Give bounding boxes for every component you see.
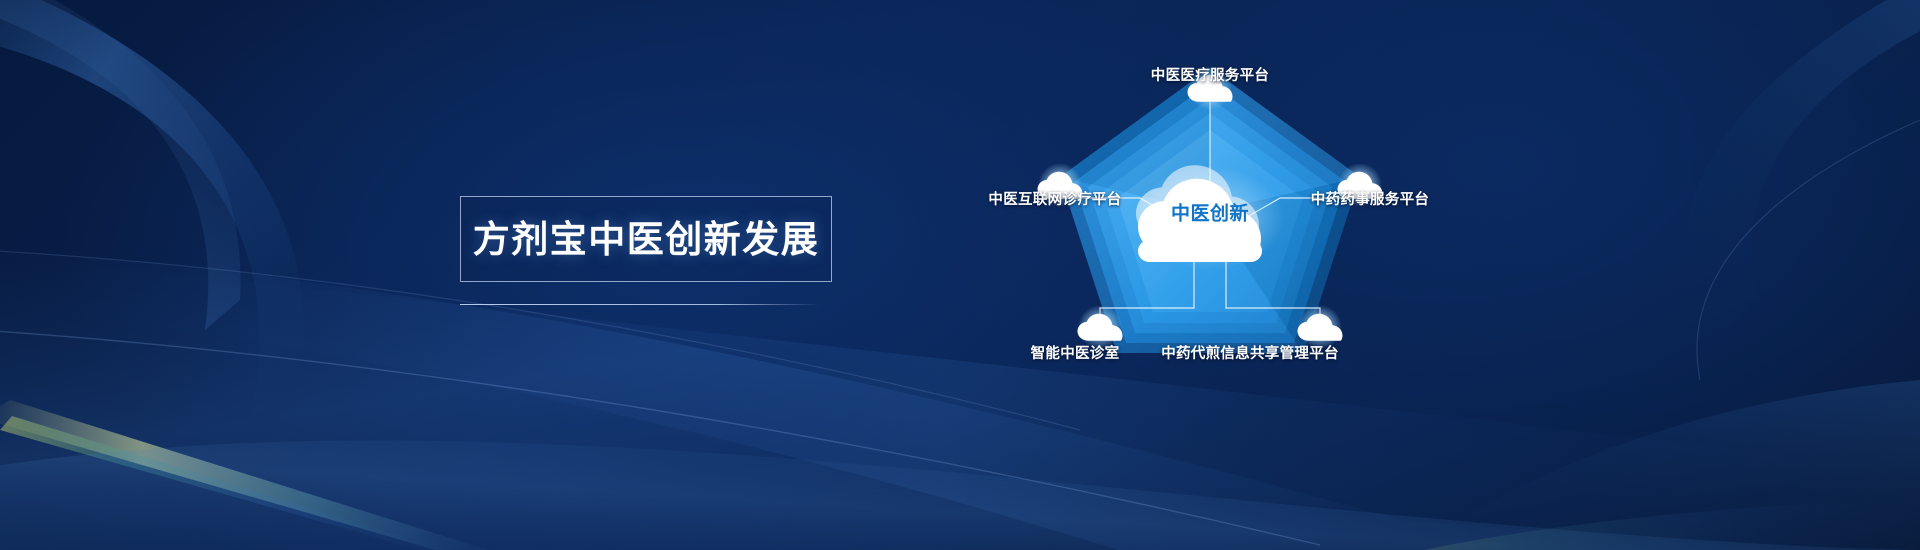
center-node-label: 中医创新 — [1171, 199, 1249, 226]
node-label-top: 中医医疗服务平台 — [1151, 64, 1269, 85]
pentagon-diagram-graphic — [930, 40, 1490, 420]
page-title: 方剂宝中医创新发展 — [473, 221, 820, 258]
pentagon-diagram: 中医医疗服务平台 中药药事服务平台 中药代煎信息共享管理平台 智能中医诊室 中医… — [930, 40, 1490, 420]
node-label-bottom-left: 智能中医诊室 — [1031, 342, 1120, 363]
node-label-bottom-right: 中药代煎信息共享管理平台 — [1161, 342, 1339, 363]
banner-stage: 方剂宝中医创新发展 — [0, 0, 1920, 550]
headline-block: 方剂宝中医创新发展 — [460, 196, 832, 305]
node-label-left: 中医互联网诊疗平台 — [988, 188, 1121, 209]
headline-box: 方剂宝中医创新发展 — [460, 196, 832, 282]
node-label-right: 中药药事服务平台 — [1311, 188, 1429, 209]
headline-underline — [460, 304, 820, 305]
